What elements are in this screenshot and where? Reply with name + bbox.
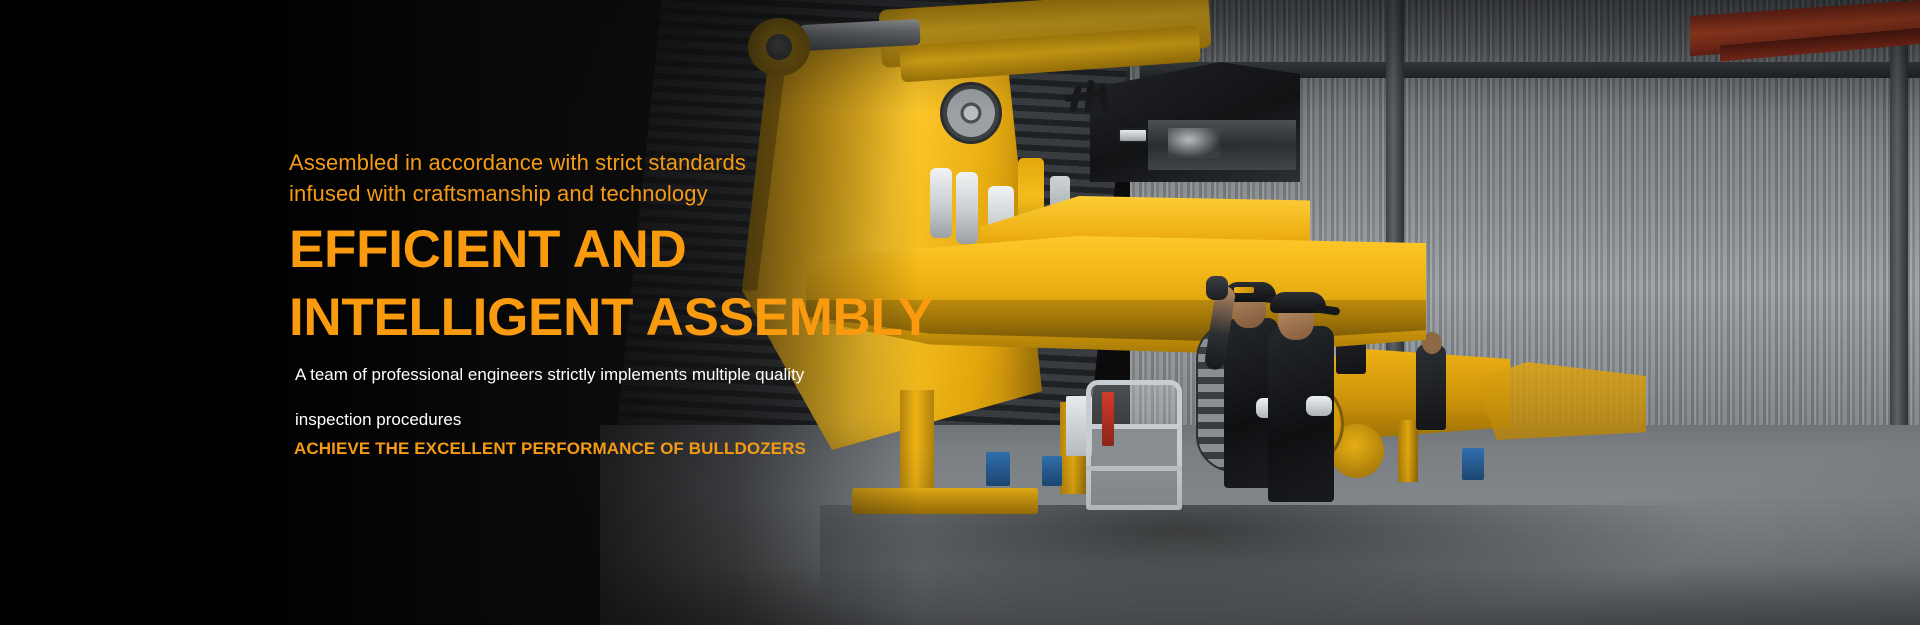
body-line-1: A team of professional engineers strictl… (289, 360, 1049, 390)
page-title-line-2: INTELLIGENT ASSEMBLY (289, 291, 1049, 345)
body-line-2: inspection procedures (289, 405, 1049, 435)
hero-copy: Assembled in accordance with strict stan… (289, 147, 1049, 460)
tagline: ACHIEVE THE EXCELLENT PERFORMANCE OF BUL… (289, 438, 1049, 460)
hero-banner: Assembled in accordance with strict stan… (0, 0, 1920, 625)
eyebrow-line-2: infused with craftsmanship and technolog… (289, 178, 1049, 209)
eyebrow-line-1: Assembled in accordance with strict stan… (289, 147, 1049, 178)
page-title-line-1: EFFICIENT AND (289, 223, 1049, 277)
